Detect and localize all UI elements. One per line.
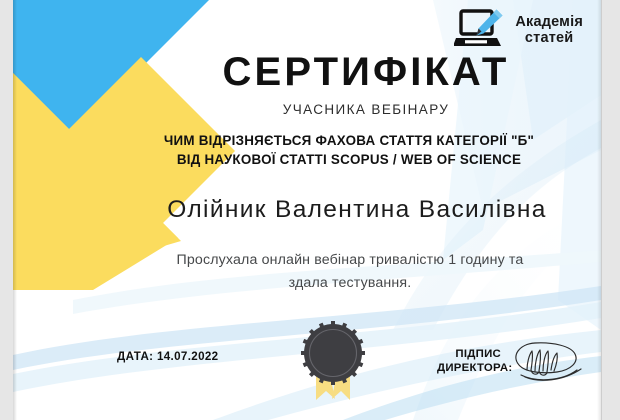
certificate-date: ДАТА: 14.07.2022 <box>117 350 219 363</box>
certificate-subtitle: УЧАСНИКА ВЕБІНАРУ <box>13 102 601 117</box>
certificate-body-text: Прослухала онлайн вебінар тривалістю 1 г… <box>13 249 601 295</box>
signature-label-line-1: ПІДПИС <box>437 348 501 362</box>
recipient-name: Олійник Валентина Василівна <box>13 196 601 224</box>
certificate-sheet: Академія статей СЕРТИФІКАТ УЧАСНИКА ВЕБІ… <box>13 0 601 420</box>
webinar-topic: ЧИМ ВІДРІЗНЯЄТЬСЯ ФАХОВА СТАТТЯ КАТЕГОРІ… <box>13 131 601 169</box>
body-text-line-2: здала тестування. <box>113 272 587 295</box>
brand-logo: Академія статей <box>454 6 583 54</box>
award-seal-icon <box>296 320 370 402</box>
logo-line-2: статей <box>515 30 583 46</box>
webinar-topic-line-1: ЧИМ ВІДРІЗНЯЄТЬСЯ ФАХОВА СТАТТЯ КАТЕГОРІ… <box>109 131 589 150</box>
logo-text: Академія статей <box>515 14 583 46</box>
body-text-line-1: Прослухала онлайн вебінар тривалістю 1 г… <box>113 249 587 272</box>
logo-line-1: Академія <box>515 14 583 30</box>
signature-label: ПІДПИС ДИРЕКТОРА: <box>437 345 501 375</box>
certificate-title: СЕРТИФІКАТ <box>13 50 601 95</box>
handwritten-signature-icon <box>505 339 589 383</box>
webinar-topic-line-2: ВІД НАУКОВОЇ СТАТТІ SCOPUS / WEB OF SCIE… <box>109 150 589 169</box>
signature-block: ПІДПИС ДИРЕКТОРА: <box>437 345 589 383</box>
signature-label-line-2: ДИРЕКТОРА: <box>437 362 501 376</box>
laptop-pencil-icon <box>454 6 508 54</box>
certificate-page: Академія статей СЕРТИФІКАТ УЧАСНИКА ВЕБІ… <box>0 0 620 420</box>
